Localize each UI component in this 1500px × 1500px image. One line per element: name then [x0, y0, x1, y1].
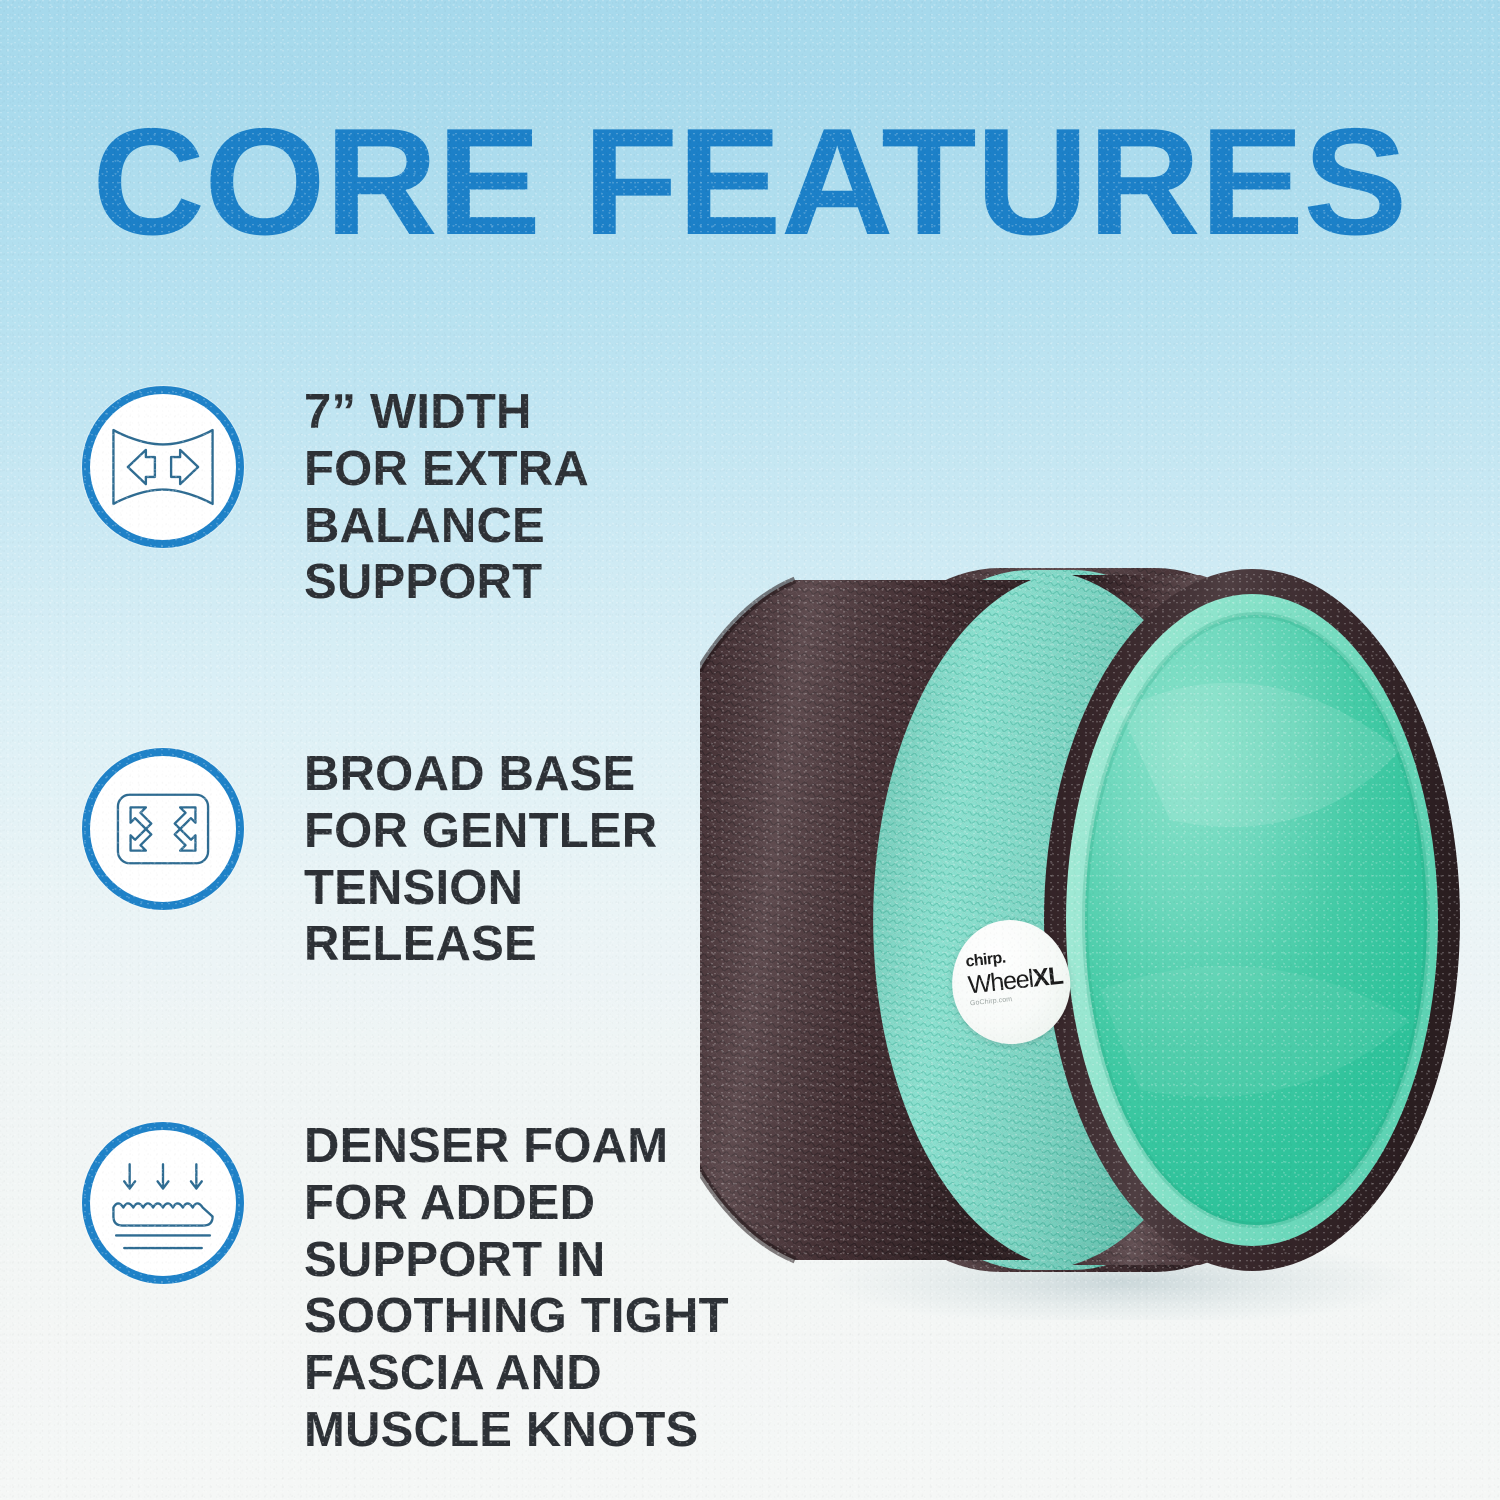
feature-label-width: 7” WIDTH FOR EXTRA BALANCE SUPPORT — [304, 382, 589, 611]
product-label-sticker: chirp. WheelXL GoChirp.com — [946, 914, 1076, 1050]
label-model-size: XL — [1031, 962, 1064, 993]
feature-item-width: 7” WIDTH FOR EXTRA BALANCE SUPPORT — [82, 382, 589, 611]
feature-item-denser-foam: DENSER FOAM FOR ADDED SUPPORT IN SOOTHIN… — [82, 1118, 729, 1459]
page-title: CORE FEATURES — [92, 106, 1500, 258]
foam-compression-icon — [82, 1122, 244, 1284]
feature-label-broad-base: BROAD BASE FOR GENTLER TENSION RELEASE — [304, 744, 657, 973]
expand-corners-icon — [82, 748, 244, 910]
width-arrows-icon — [82, 386, 244, 548]
infographic-page: CORE FEATURES 7” WIDTH FOR EXTRA BALANCE… — [0, 0, 1500, 1500]
feature-item-broad-base: BROAD BASE FOR GENTLER TENSION RELEASE — [82, 744, 657, 973]
feature-label-denser-foam: DENSER FOAM FOR ADDED SUPPORT IN SOOTHIN… — [304, 1118, 729, 1459]
product-image-chirp-wheel-xl: chirp. chirp. chirp. WheelXL — [700, 520, 1490, 1320]
